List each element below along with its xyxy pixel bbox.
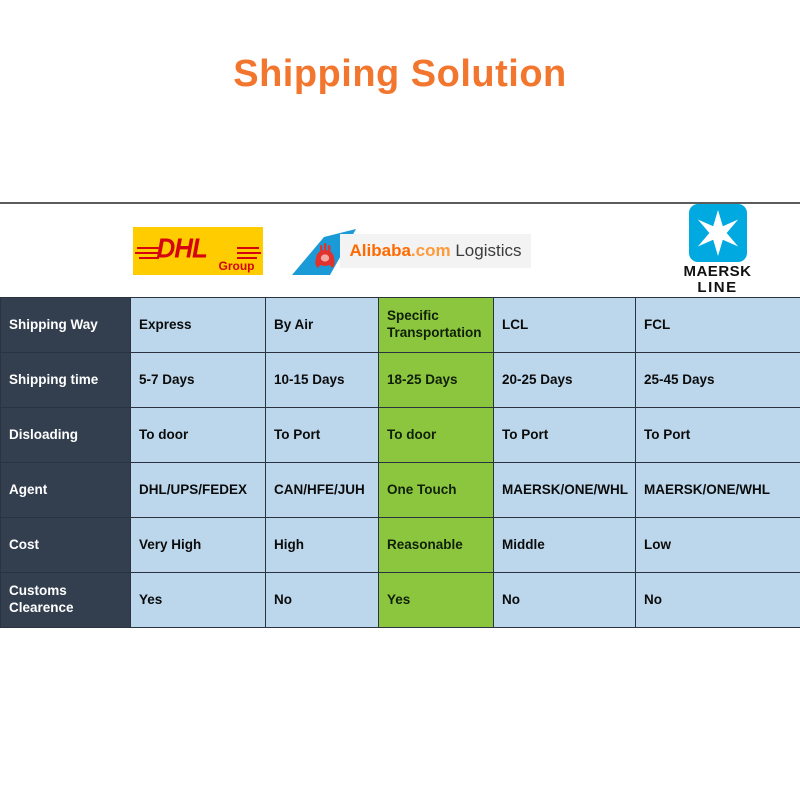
cell-agent-dhl: DHL/UPS/FEDEX: [131, 463, 266, 518]
cell-disloading-dhl: To door: [131, 408, 266, 463]
cell-agent-air: CAN/HFE/JUH: [266, 463, 379, 518]
dhl-streak-icon: [237, 252, 261, 254]
dhl-streak-icon: [237, 247, 259, 249]
row-label-shipping-way: Shipping Way: [1, 298, 131, 353]
shipping-solution-slide: Shipping Solution DHL Group: [0, 0, 800, 800]
row-label-customs-clearence: Customs Clearence: [1, 573, 131, 628]
page-title: Shipping Solution: [233, 53, 567, 96]
dhl-logo: DHL Group: [133, 227, 263, 275]
cell-customs-lcl: No: [494, 573, 636, 628]
dhl-streak-icon: [137, 247, 159, 249]
shipping-comparison-table: Shipping Way Express By Air Specific Tra…: [0, 297, 800, 628]
maersk-line2: LINE: [683, 280, 751, 295]
table-row: Cost Very High High Reasonable Middle Lo…: [1, 518, 800, 573]
cell-disloading-fcl: To Port: [636, 408, 800, 463]
row-label-agent: Agent: [1, 463, 131, 518]
row-label-disloading: Disloading: [1, 408, 131, 463]
cell-customs-alibaba: Yes: [379, 573, 494, 628]
cell-disloading-lcl: To Port: [494, 408, 636, 463]
cell-agent-fcl: MAERSK/ONE/WHL: [636, 463, 800, 518]
table-row: Agent DHL/UPS/FEDEX CAN/HFE/JUH One Touc…: [1, 463, 800, 518]
dhl-streak-icon: [139, 257, 159, 259]
cell-shipping-way-lcl: LCL: [494, 298, 636, 353]
cell-cost-lcl: Middle: [494, 518, 636, 573]
cell-shipping-way-dhl: Express: [131, 298, 266, 353]
cell-agent-alibaba: One Touch: [379, 463, 494, 518]
logo-cell-lcl: [493, 204, 635, 297]
logo-cell-empty: [0, 204, 130, 297]
table-row: Shipping Way Express By Air Specific Tra…: [1, 298, 800, 353]
logo-cell-dhl: DHL Group: [130, 204, 265, 297]
table-row: Customs Clearence Yes No Yes No No: [1, 573, 800, 628]
cell-shipping-time-lcl: 20-25 Days: [494, 353, 636, 408]
cell-shipping-time-dhl: 5-7 Days: [131, 353, 266, 408]
maersk-star-badge: [689, 204, 747, 262]
row-label-cost: Cost: [1, 518, 131, 573]
row-label-shipping-time: Shipping time: [1, 353, 131, 408]
cell-disloading-air: To Port: [266, 408, 379, 463]
maersk-line1: MAERSK: [683, 264, 751, 279]
dhl-streak-icon: [135, 252, 159, 254]
table-row: Shipping time 5-7 Days 10-15 Days 18-25 …: [1, 353, 800, 408]
cell-cost-air: High: [266, 518, 379, 573]
title-bar: Shipping Solution: [0, 0, 800, 203]
cell-shipping-way-alibaba: Specific Transportation: [379, 298, 494, 353]
dhl-group-label: Group: [219, 259, 255, 273]
maersk-wordmark: MAERSK LINE: [683, 264, 751, 295]
cell-shipping-time-alibaba: 18-25 Days: [379, 353, 494, 408]
alibaba-com-suffix: .com: [411, 241, 451, 260]
cell-cost-dhl: Very High: [131, 518, 266, 573]
cell-customs-fcl: No: [636, 573, 800, 628]
cell-agent-lcl: MAERSK/ONE/WHL: [494, 463, 636, 518]
cell-disloading-alibaba: To door: [379, 408, 494, 463]
logo-cell-alibaba: Alibaba.com Logistics: [378, 204, 493, 297]
table-body: Shipping Way Express By Air Specific Tra…: [1, 298, 800, 628]
comparison-table-wrap: Shipping Way Express By Air Specific Tra…: [0, 297, 800, 628]
cell-customs-dhl: Yes: [131, 573, 266, 628]
cell-shipping-way-air: By Air: [266, 298, 379, 353]
cell-cost-alibaba: Reasonable: [379, 518, 494, 573]
cell-shipping-way-fcl: FCL: [636, 298, 800, 353]
logo-row: DHL Group: [0, 204, 800, 297]
logo-cell-maersk: MAERSK LINE: [635, 204, 800, 297]
cell-customs-air: No: [266, 573, 379, 628]
seven-point-star-icon: [694, 209, 742, 257]
dhl-wordmark: DHL: [157, 232, 207, 265]
cell-shipping-time-air: 10-15 Days: [266, 353, 379, 408]
cell-cost-fcl: Low: [636, 518, 800, 573]
alibaba-wordmark: Alibaba: [350, 241, 411, 260]
table-row: Disloading To door To Port To door To Po…: [1, 408, 800, 463]
maersk-line-logo: MAERSK LINE: [670, 204, 765, 295]
cell-shipping-time-fcl: 25-45 Days: [636, 353, 800, 408]
